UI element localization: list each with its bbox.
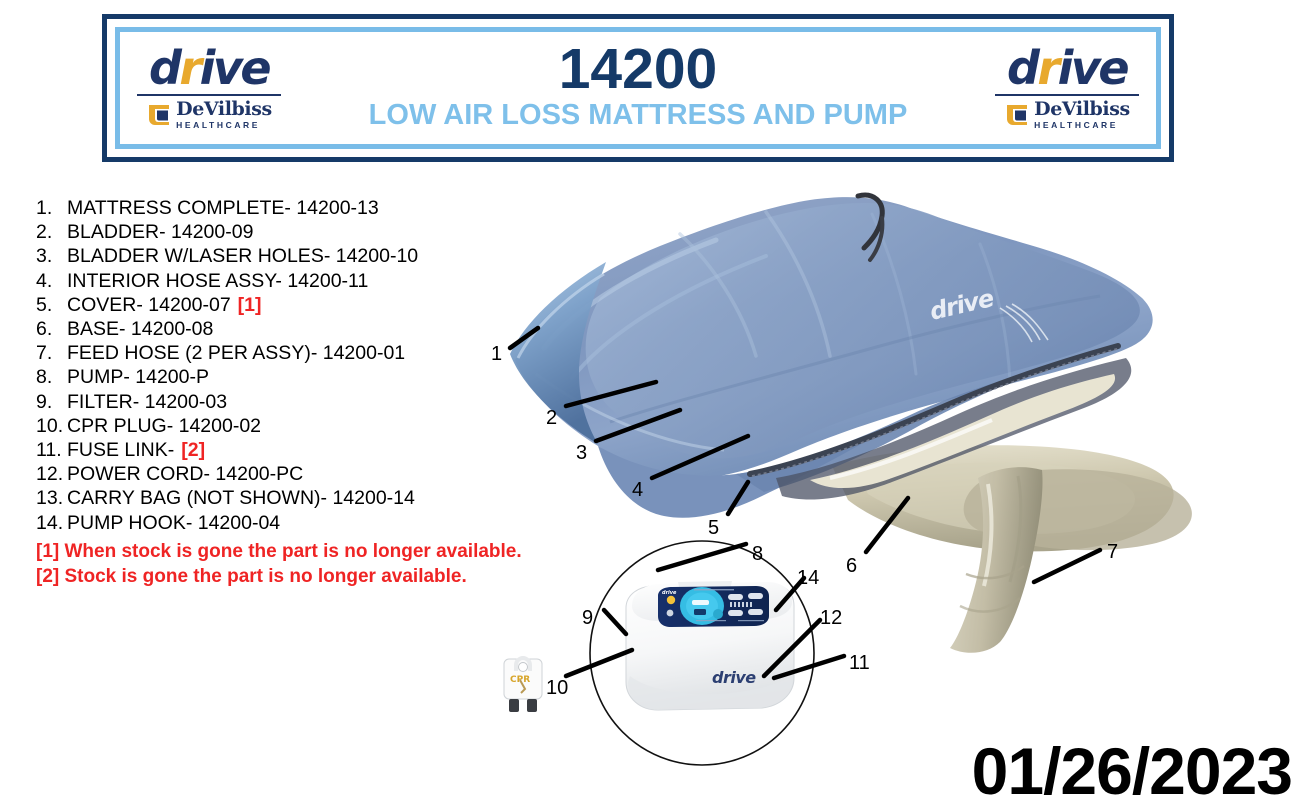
parts-list-item-footnote-ref: [2] — [181, 438, 205, 462]
callout-number-8: 8 — [752, 544, 763, 564]
healthcare-wordmark: HEALTHCARE — [176, 121, 260, 130]
drive-devilbiss-logo-right: drive DeVilbiss HEALTHCARE — [992, 46, 1142, 130]
parts-list-item: 8.PUMP- 14200-P — [36, 365, 476, 389]
callout-number-1: 1 — [491, 344, 502, 364]
pump-amber-indicator-icon — [667, 596, 675, 604]
callout-number-4: 4 — [632, 480, 643, 500]
drive-wordmark: drive — [1007, 46, 1127, 91]
healthcare-wordmark: HEALTHCARE — [1034, 121, 1118, 130]
parts-list-item: 9.FILTER- 14200-03 — [36, 390, 476, 414]
figure-area: drive — [480, 178, 1314, 812]
callout-number-6: 6 — [846, 556, 857, 576]
parts-list-item: 1.MATTRESS COMPLETE- 14200-13 — [36, 196, 476, 220]
parts-list-item-footnote-ref: [1] — [238, 293, 262, 317]
parts-list-item-index: 9. — [36, 390, 67, 414]
callout-number-5: 5 — [708, 518, 719, 538]
parts-list-item-index: 13. — [36, 486, 67, 510]
parts-list-item-label: BASE- 14200-08 — [67, 317, 213, 341]
header-banner-inner: drive DeVilbiss HEALTHCARE 14200 L — [115, 27, 1161, 149]
parts-list-item-label: CARRY BAG (NOT SHOWN)- 14200-14 — [67, 486, 415, 510]
parts-list-item-label: FEED HOSE (2 PER ASSY)- 14200-01 — [67, 341, 405, 365]
parts-list-item-label: COVER- 14200-07 — [67, 293, 231, 317]
air-pump-photo: drive drive — [626, 581, 794, 710]
drive-accent-i: r — [1037, 41, 1057, 95]
parts-list-item-index: 10. — [36, 414, 67, 438]
parts-list: 1.MATTRESS COMPLETE- 14200-132.BLADDER- … — [36, 196, 476, 535]
pump-grey-indicator-icon — [667, 610, 674, 617]
parts-list-item-label: PUMP HOOK- 14200-04 — [67, 511, 280, 535]
parts-list-item-index: 5. — [36, 293, 67, 317]
pump-drive-wordmark: drive — [712, 668, 756, 687]
drive-accent-i: r — [179, 41, 199, 95]
callout-number-14: 14 — [797, 568, 819, 588]
parts-list-item-label: BLADDER- 14200-09 — [67, 220, 253, 244]
devilbiss-mark-icon — [1004, 102, 1030, 128]
devilbiss-text-group: DeVilbiss HEALTHCARE — [1034, 100, 1130, 130]
parts-list-item: 13.CARRY BAG (NOT SHOWN)- 14200-14 — [36, 486, 476, 510]
parts-list-item-label: MATTRESS COMPLETE- 14200-13 — [67, 196, 379, 220]
header-banner: drive DeVilbiss HEALTHCARE 14200 L — [102, 14, 1174, 162]
parts-list-item: 7.FEED HOSE (2 PER ASSY)- 14200-01 — [36, 341, 476, 365]
parts-list-item-index: 2. — [36, 220, 67, 244]
drive-devilbiss-logo-left: drive DeVilbiss HEALTHCARE — [134, 46, 284, 130]
parts-list-item-index: 8. — [36, 365, 67, 389]
parts-list-item-index: 12. — [36, 462, 67, 486]
pump-button-2 — [748, 593, 763, 599]
parts-list-item: 10.CPR PLUG- 14200-02 — [36, 414, 476, 438]
callout-number-3: 3 — [576, 443, 587, 463]
parts-list-item-label: POWER CORD- 14200-PC — [67, 462, 303, 486]
parts-list-item-label: INTERIOR HOSE ASSY- 14200-11 — [67, 269, 368, 293]
devilbiss-row: DeVilbiss HEALTHCARE — [1004, 100, 1130, 130]
low-air-loss-mattress-photo: drive — [510, 195, 1192, 653]
cpr-plug-photo: CPR — [504, 656, 542, 712]
devilbiss-wordmark: DeVilbiss — [176, 100, 272, 119]
parts-list-item-label: FILTER- 14200-03 — [67, 390, 227, 414]
callout-number-10: 10 — [546, 678, 568, 698]
callout-number-11: 11 — [849, 653, 870, 673]
callout-number-12: 12 — [820, 608, 842, 628]
devilbiss-row: DeVilbiss HEALTHCARE — [146, 100, 272, 130]
parts-list-item: 4.INTERIOR HOSE ASSY- 14200-11 — [36, 269, 476, 293]
parts-list-item-index: 6. — [36, 317, 67, 341]
parts-list-item-index: 1. — [36, 196, 67, 220]
callout-number-7: 7 — [1107, 542, 1118, 562]
parts-list-item: 6.BASE- 14200-08 — [36, 317, 476, 341]
parts-list-item-label: PUMP- 14200-P — [67, 365, 209, 389]
pump-button-3 — [728, 610, 743, 616]
parts-list-item-index: 3. — [36, 244, 67, 268]
page-title-model-number: 14200 — [284, 40, 992, 98]
header-title-block: 14200 LOW AIR LOSS MATTRESS AND PUMP — [284, 40, 992, 136]
parts-list-item-index: 11. — [36, 438, 67, 462]
parts-list-item-index: 14. — [36, 511, 67, 535]
parts-list-item: 11.FUSE LINK-[2] — [36, 438, 476, 462]
parts-list-item: 3.BLADDER W/LASER HOLES- 14200-10 — [36, 244, 476, 268]
pump-button-1 — [728, 594, 743, 600]
parts-list-item: 2.BLADDER- 14200-09 — [36, 220, 476, 244]
devilbiss-text-group: DeVilbiss HEALTHCARE — [176, 100, 272, 130]
parts-diagram-illustration: drive — [480, 178, 1314, 812]
parts-list-item-index: 7. — [36, 341, 67, 365]
parts-list-item: 14.PUMP HOOK- 14200-04 — [36, 511, 476, 535]
parts-list-item-label: FUSE LINK- — [67, 438, 174, 462]
parts-list-item: 12.POWER CORD- 14200-PC — [36, 462, 476, 486]
parts-list-item: 5.COVER- 14200-07[1] — [36, 293, 476, 317]
devilbiss-mark-icon — [146, 102, 172, 128]
devilbiss-wordmark: DeVilbiss — [1034, 100, 1130, 119]
callout-number-9: 9 — [582, 608, 593, 628]
drive-wordmark: drive — [149, 46, 269, 91]
parts-list-item-label: CPR PLUG- 14200-02 — [67, 414, 261, 438]
svg-text:drive: drive — [662, 590, 677, 596]
parts-list-item-label: BLADDER W/LASER HOLES- 14200-10 — [67, 244, 418, 268]
parts-list-item-index: 4. — [36, 269, 67, 293]
pump-button-4 — [748, 609, 763, 615]
page-subtitle: LOW AIR LOSS MATTRESS AND PUMP — [284, 100, 992, 132]
callout-number-2: 2 — [546, 408, 557, 428]
